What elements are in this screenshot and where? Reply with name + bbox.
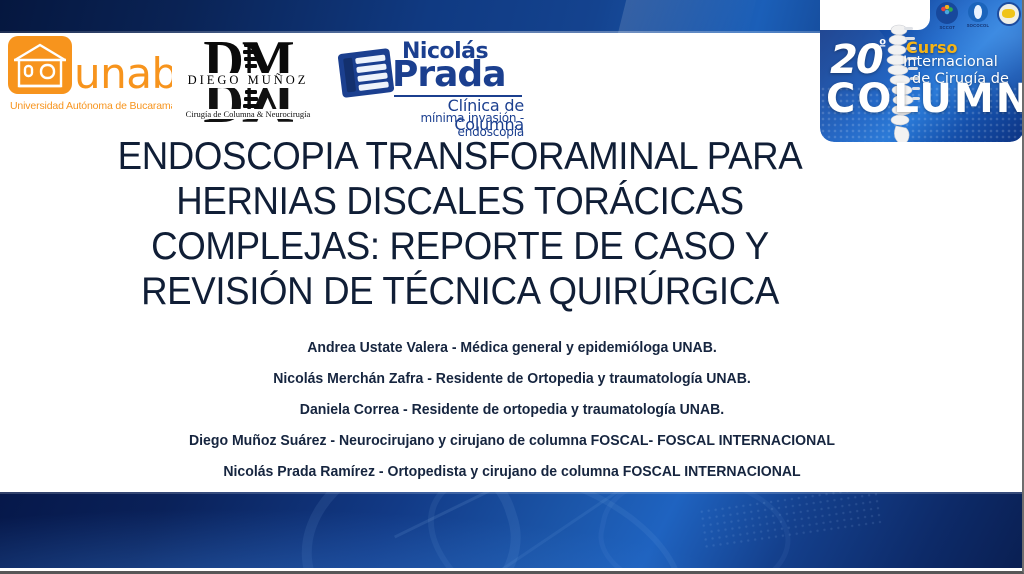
sococol-logo: SOCOCOL (966, 2, 990, 26)
sococol-circle-icon (968, 2, 988, 22)
sccot-circle-icon (936, 2, 958, 24)
presentation-slide: unab Universidad Autónoma de Bucaramanga… (0, 0, 1024, 574)
badge-edition-number: 20 (830, 40, 882, 80)
sccot-label: SCCOT (935, 25, 959, 30)
author-line: Diego Muñoz Suárez - Neurocirujano y cir… (46, 433, 977, 449)
title-line-1: ENDOSCOPIA TRANSFORAMINAL PARA (65, 134, 855, 179)
badge-edition-degree: º (879, 38, 886, 53)
society-logos-row: SCCOT SOCOCOL (932, 1, 1024, 27)
author-line: Daniela Correa - Residente de ortopedia … (46, 402, 977, 418)
title-line-3: COMPLEJAS: REPORTE DE CASO Y (65, 224, 855, 269)
bottom-decorative-band (0, 492, 1024, 568)
prada-last-name: Prada (392, 57, 506, 93)
slide-title: ENDOSCOPIA TRANSFORAMINAL PARA HERNIAS D… (65, 134, 855, 314)
third-society-circle-icon (997, 2, 1021, 26)
unab-subtitle: Universidad Autónoma de Bucaramanga (10, 100, 193, 112)
sponsor-logo-strip: unab Universidad Autónoma de Bucaramanga… (0, 33, 816, 125)
title-line-4: REVISIÓN DE TÉCNICA QUIRÚRGICA (65, 269, 855, 314)
unab-house-glyph (8, 36, 72, 94)
title-line-2: HERNIAS DISCALES TORÁCICAS (65, 179, 855, 224)
author-list: Andrea Ustate Valera - Médica general y … (32, 340, 992, 480)
diego-munoz-logo: DM DM DIEGO MUÑOZ Cirugía de Columna & N… (172, 35, 324, 123)
badge-line-internacional: Internacional (903, 54, 998, 70)
author-line: Nicolás Merchán Zafra - Residente de Ort… (46, 371, 977, 387)
bottom-band-glow (0, 508, 760, 568)
author-line: Nicolás Prada Ramírez - Ortopedista y ci… (46, 464, 977, 480)
event-badge: SCCOT SOCOCOL 20 º Curso Internacional d… (820, 0, 1024, 142)
third-society-logo (997, 2, 1021, 26)
sococol-label: SOCOCOL (966, 23, 990, 28)
prada-vertebra-icon (336, 47, 396, 99)
author-line: Andrea Ustate Valera - Médica general y … (46, 340, 977, 356)
nicolas-prada-logo: Nicolás Prada Clínica de Columna mínima … (336, 37, 524, 121)
band-sheen (609, 0, 761, 33)
dm-subtitle: Cirugía de Columna & Neurocirugía (172, 109, 324, 119)
unab-wordmark: unab (74, 54, 178, 94)
unab-house-icon (8, 36, 72, 94)
sccot-logo: SCCOT (935, 2, 959, 26)
unab-logo: unab Universidad Autónoma de Bucaramanga (8, 36, 158, 118)
badge-columna-label: COLUMNA (826, 78, 1024, 120)
dm-spine-icon (242, 41, 260, 117)
